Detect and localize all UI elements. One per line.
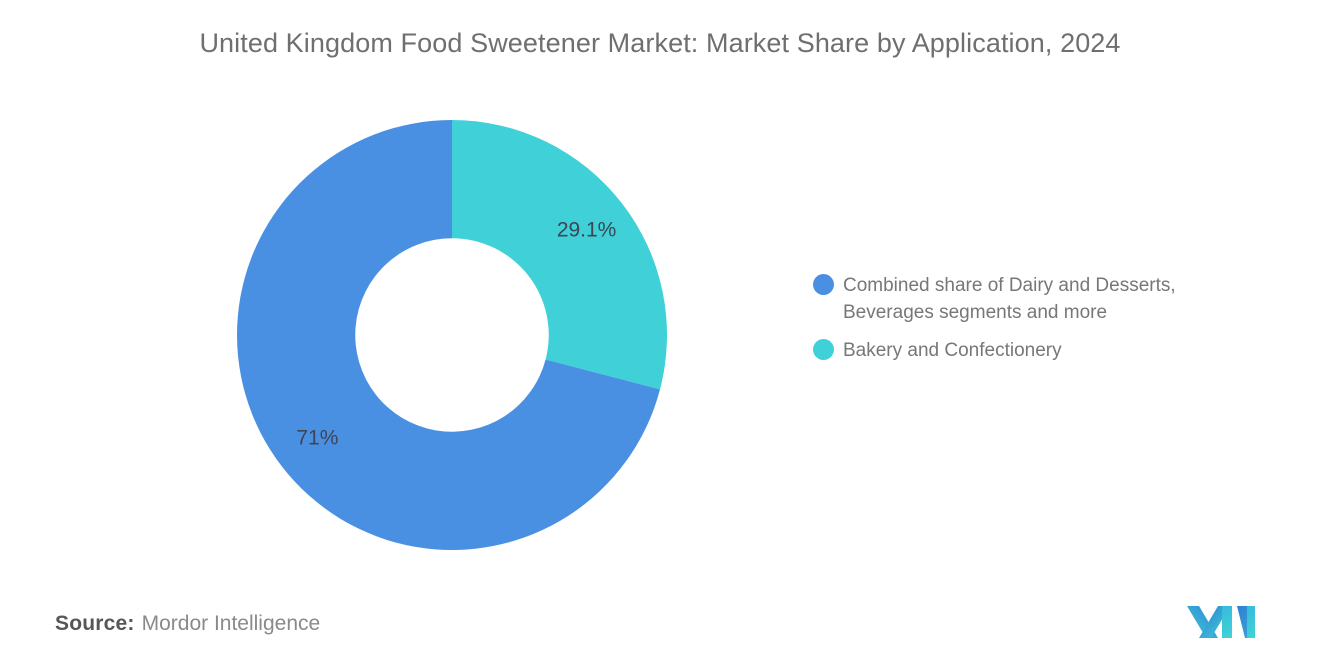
legend-item-combined-share[interactable]: Combined share of Dairy and Desserts, Be… <box>813 272 1253 326</box>
legend-swatch-icon-bakery-and-confectionery <box>813 339 834 360</box>
source-label: Source: <box>55 612 135 635</box>
pie-slice-label-combined-share: 71% <box>296 426 338 449</box>
legend-item-bakery-and-confectionery[interactable]: Bakery and Confectionery <box>813 337 1253 364</box>
legend-label-combined-share: Combined share of Dairy and Desserts, Be… <box>843 272 1243 326</box>
pie-slice-label-bakery-and-confectionery: 29.1% <box>557 219 617 242</box>
source-attribution: Source:Mordor Intelligence <box>55 612 320 636</box>
page-title: United Kingdom Food Sweetener Market: Ma… <box>0 28 1320 59</box>
mi-logo-svg <box>1185 600 1257 642</box>
source-value: Mordor Intelligence <box>142 612 321 635</box>
donut-chart: 29.1% 71% <box>237 120 667 550</box>
legend-swatch-icon-combined-share <box>813 274 834 295</box>
pie-slice-bakery-and-confectionery[interactable] <box>452 120 667 389</box>
chart-legend: Combined share of Dairy and Desserts, Be… <box>813 272 1253 375</box>
legend-label-bakery-and-confectionery: Bakery and Confectionery <box>843 337 1062 364</box>
mordor-intelligence-logo-icon <box>1185 600 1257 642</box>
donut-chart-svg: 29.1% 71% <box>237 120 667 550</box>
